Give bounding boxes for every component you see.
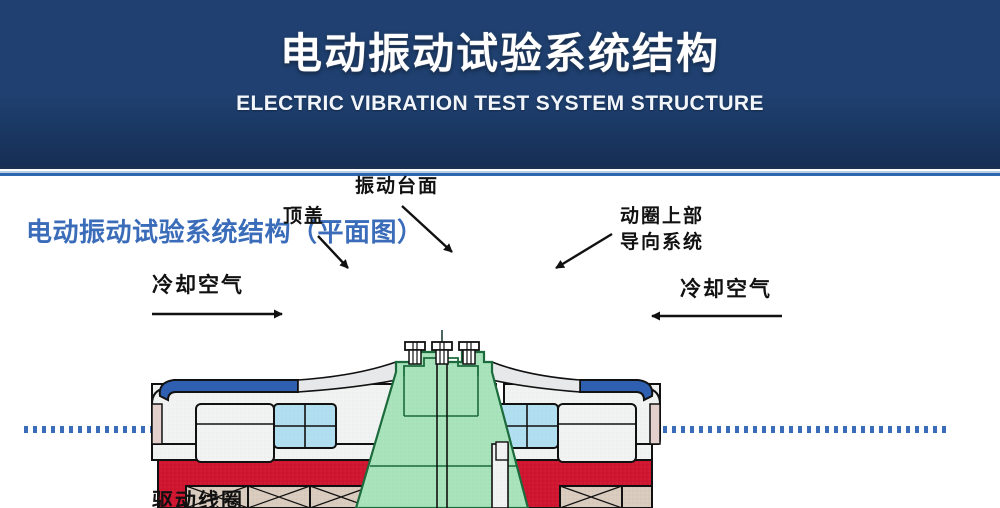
page-title: 电动振动试验系统结构 — [280, 30, 720, 78]
label-vibration-table: 振动台面 — [355, 174, 439, 197]
separator-cap-right — [496, 442, 508, 460]
shaker-cross-section-diagram: 振动台面 顶盖 动圈上部 导向系统 冷却空气 冷却空气 驱动线圈 — [0, 166, 1000, 508]
leader-vibration-table — [402, 206, 452, 252]
guide-block-white-left — [196, 404, 274, 462]
diagram-container: 振动台面 顶盖 动圈上部 导向系统 冷却空气 冷却空气 驱动线圈 — [0, 166, 1000, 508]
label-top-cover: 顶盖 — [283, 204, 325, 227]
side-seal-right — [650, 404, 660, 444]
leader-coil-guide — [556, 234, 612, 268]
label-coil-guide-line2: 导向系统 — [620, 230, 704, 253]
leader-top-cover — [318, 236, 348, 268]
page-header-banner: 电动振动试验系统结构 ELECTRIC VIBRATION TEST SYSTE… — [0, 0, 1000, 166]
label-coil-guide-line1: 动圈上部 — [620, 204, 704, 227]
label-drive-coil: 驱动线圈 — [152, 489, 244, 508]
label-cooling-air-left: 冷却空气 — [152, 273, 244, 297]
side-seal-left — [152, 404, 162, 444]
page-subtitle-english: ELECTRIC VIBRATION TEST SYSTEM STRUCTURE — [236, 92, 764, 116]
shaker-machine-body — [152, 330, 660, 508]
pole-piece-5 — [622, 486, 652, 508]
label-cooling-air-right: 冷却空气 — [680, 277, 772, 301]
guide-block-white-right — [558, 404, 636, 462]
